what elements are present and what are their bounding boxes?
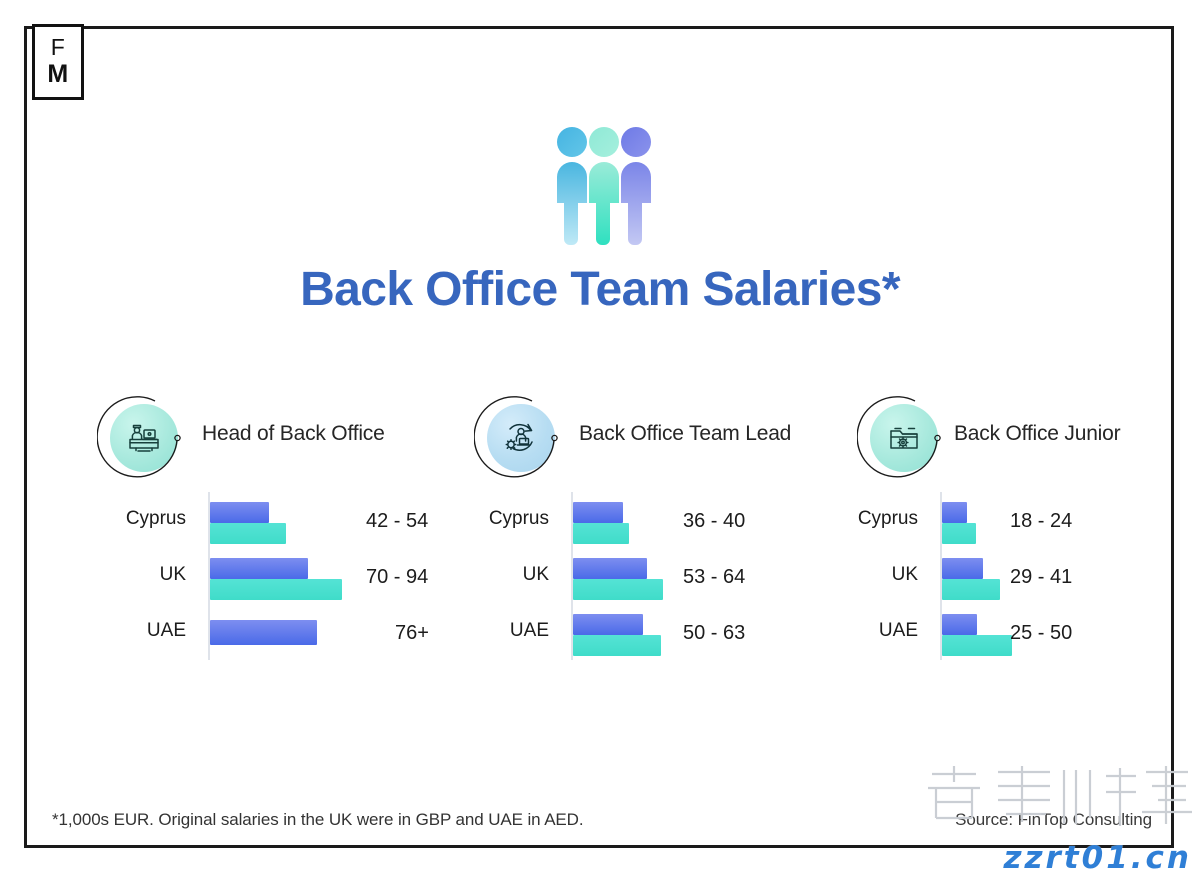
footnote: *1,000s EUR. Original salaries in the UK…: [52, 810, 583, 830]
chart-title: Back Office Junior: [954, 422, 1120, 446]
chart-header: Head of Back Office: [84, 398, 444, 480]
logo-letter-m: M: [47, 61, 68, 89]
category-label: Cyprus: [806, 508, 930, 530]
bar-min: [210, 558, 308, 579]
fm-logo: F M: [32, 24, 84, 100]
bar-max: [573, 523, 629, 544]
value-label: 70 - 94: [366, 566, 428, 589]
watermark-url: zzrt01.cn: [1003, 840, 1192, 876]
bar-max: [942, 635, 1012, 656]
three-people-icon: [546, 125, 662, 249]
bar-chart: Cyprus 36 - 40 UK 53 - 64 UAE 50 - 63: [461, 490, 821, 666]
bar-chart: Cyprus 18 - 24 UK 29 - 41 UAE 25 - 50: [844, 490, 1200, 666]
chart-back-office-team-lead: Back Office Team Lead Cyprus 36 - 40 UK …: [461, 398, 821, 666]
chart-back-office-junior: Back Office Junior Cyprus 18 - 24 UK 29 …: [844, 398, 1200, 666]
chart-header: Back Office Junior: [844, 398, 1200, 480]
chart-title: Back Office Team Lead: [579, 422, 791, 446]
category-label: UK: [437, 564, 561, 586]
source-label: Source: FinTop Consulting: [955, 810, 1152, 830]
bar-max: [942, 579, 1000, 600]
value-label: 50 - 63: [683, 622, 745, 645]
chart-head-of-back-office: Head of Back Office Cyprus 42 - 54 UK 70…: [84, 398, 444, 666]
bar-chart: Cyprus 42 - 54 UK 70 - 94 UAE 76+: [84, 490, 444, 666]
bar-min: [573, 558, 647, 579]
value-label: 25 - 50: [1010, 622, 1072, 645]
value-label: 36 - 40: [683, 510, 745, 533]
bar-max: [942, 523, 976, 544]
bar-min: [942, 502, 967, 523]
bar-min: [573, 502, 623, 523]
bar-min: [210, 502, 269, 523]
infographic-page: F M: [0, 0, 1200, 878]
category-label: Cyprus: [437, 508, 561, 530]
remote-worker-gear-icon: [501, 418, 541, 458]
folder-gear-icon: [884, 418, 924, 458]
page-title: Back Office Team Salaries*: [0, 262, 1200, 317]
category-label: UK: [806, 564, 930, 586]
category-label: UAE: [437, 620, 561, 642]
bar-max: [210, 523, 286, 544]
value-label: 76+: [395, 622, 429, 645]
logo-letter-f: F: [51, 36, 66, 59]
value-label: 42 - 54: [366, 510, 428, 533]
bar-max: [573, 635, 661, 656]
category-label: UAE: [74, 620, 198, 642]
bar-min: [573, 614, 643, 635]
category-label: UAE: [806, 620, 930, 642]
bar-min: [942, 614, 977, 635]
person-at-desk-icon: [124, 418, 164, 458]
category-label: Cyprus: [74, 508, 198, 530]
category-label: UK: [74, 564, 198, 586]
charts-container: Head of Back Office Cyprus 42 - 54 UK 70…: [60, 398, 1150, 688]
chart-header: Back Office Team Lead: [461, 398, 821, 480]
chart-title: Head of Back Office: [202, 422, 385, 446]
bar-min: [942, 558, 983, 579]
value-label: 18 - 24: [1010, 510, 1072, 533]
value-label: 53 - 64: [683, 566, 745, 589]
bar-min: [210, 620, 317, 645]
bar-max: [210, 579, 342, 600]
value-label: 29 - 41: [1010, 566, 1072, 589]
bar-max: [573, 579, 663, 600]
